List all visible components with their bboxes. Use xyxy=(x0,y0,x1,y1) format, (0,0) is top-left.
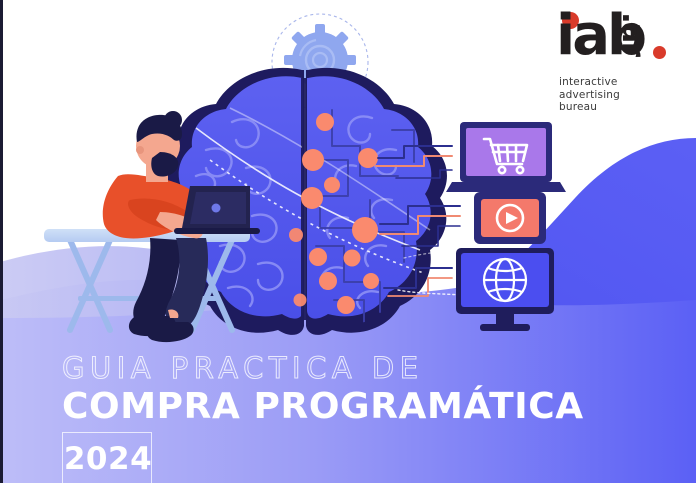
year-label: 2024 xyxy=(63,442,153,476)
title-kicker: GUIA PRACTICA DE xyxy=(62,352,584,385)
laptop-device xyxy=(446,122,566,192)
monitor-device xyxy=(456,248,554,331)
logo-tagline-line-3: bureau xyxy=(559,101,620,114)
logo-country-suffix: .ar xyxy=(617,12,648,55)
page-title: COMPRA PROGRAMÁTICA xyxy=(62,386,584,428)
logo-tagline-line-1: interactive xyxy=(559,76,620,89)
iab-logo[interactable]: iab .ar interactive advertising bureau xyxy=(556,6,684,114)
year-badge: 2024 xyxy=(62,432,152,483)
logo-ar-dot xyxy=(653,46,666,59)
tablet-device xyxy=(474,192,546,244)
left-edge-strip xyxy=(0,0,3,483)
logo-tagline: interactive advertising bureau xyxy=(559,76,620,114)
title-block: GUIA PRACTICA DE COMPRA PROGRAMÁTICA xyxy=(62,352,584,428)
cover-page: iab .ar interactive advertising bureau G… xyxy=(0,0,696,483)
logo-mark: iab .ar xyxy=(556,6,674,68)
logo-tagline-line-2: advertising xyxy=(559,89,620,102)
